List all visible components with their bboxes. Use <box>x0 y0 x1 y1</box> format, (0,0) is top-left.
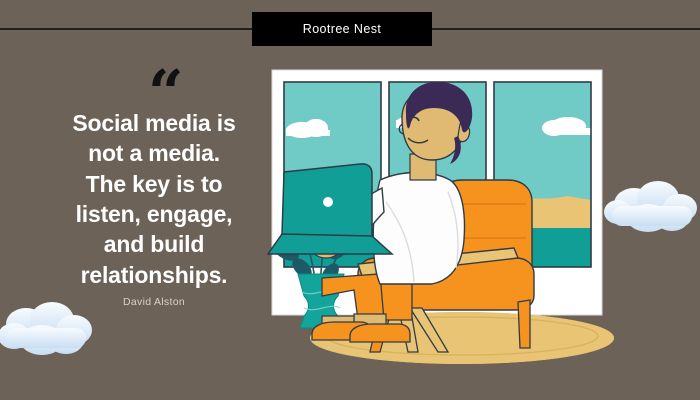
quote-line-2: not a media. <box>18 138 290 168</box>
slipper-right <box>350 324 410 342</box>
brand-title: Rootree Nest <box>303 22 381 36</box>
quote-text: Social media is not a media. The key is … <box>18 108 290 290</box>
quote-line-6: relationships. <box>18 260 290 290</box>
quote-author: David Alston <box>18 296 290 308</box>
cloud-right <box>604 176 700 238</box>
quote-card: Rootree Nest <box>0 0 700 400</box>
title-banner: Rootree Nest <box>252 12 432 46</box>
quote-line-3: The key is to <box>18 169 290 199</box>
quote-line-1: Social media is <box>18 108 290 138</box>
quote-line-4: listen, engage, <box>18 199 290 229</box>
quote-line-5: and build <box>18 229 290 259</box>
